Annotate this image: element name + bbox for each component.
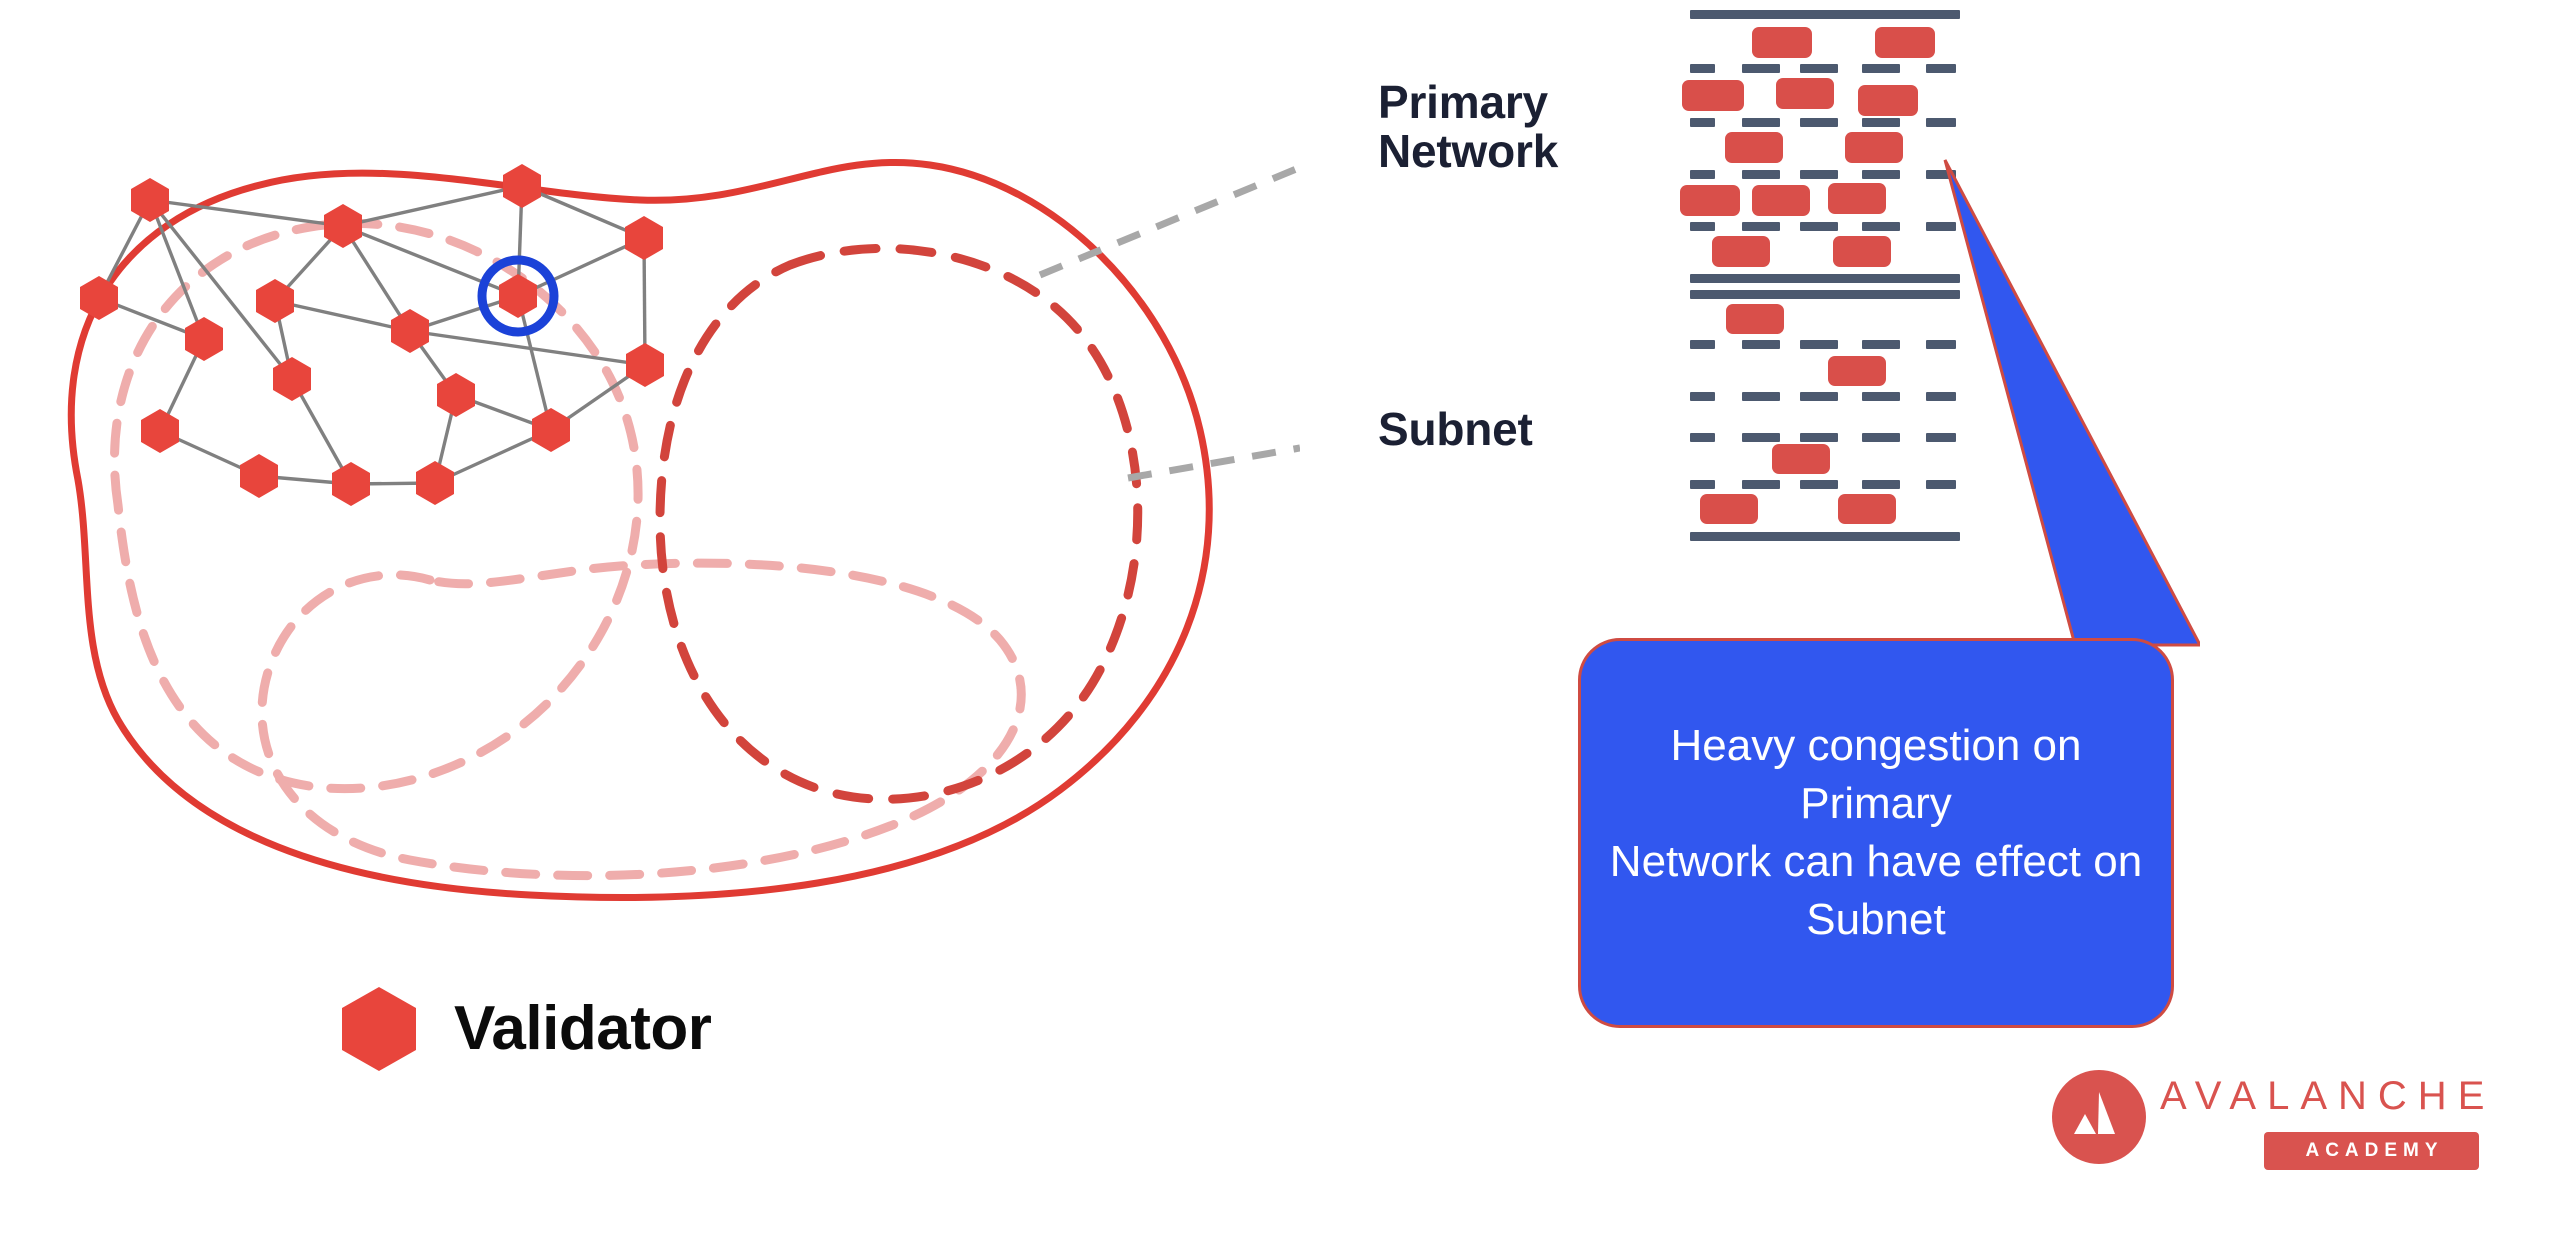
validator-legend: Validator (340, 985, 711, 1071)
transaction-block (1845, 132, 1903, 163)
pending-dash (1742, 480, 1780, 489)
transaction-block (1700, 494, 1758, 524)
validator-hexagon-icon (332, 462, 370, 506)
transaction-block (1833, 236, 1891, 267)
transaction-block (1828, 183, 1886, 214)
pending-dash-row (1690, 170, 1960, 179)
pending-dash (1800, 340, 1838, 349)
primary-network-label: Primary Network (1378, 78, 1558, 176)
pending-dash-row (1690, 118, 1960, 127)
avalanche-mark-icon (2052, 1070, 2146, 1164)
transaction-block (1712, 236, 1770, 267)
pending-dash (1690, 392, 1715, 401)
pending-dash (1800, 433, 1838, 442)
pending-dash (1800, 222, 1838, 231)
transaction-block (1682, 80, 1744, 111)
subnet-label: Subnet (1378, 405, 1533, 454)
transaction-block (1776, 78, 1834, 109)
validator-hexagon-icon (240, 454, 278, 498)
network-graph-svg (0, 0, 1300, 1000)
pending-dash-row (1690, 340, 1960, 349)
pending-dash (1690, 480, 1715, 489)
pending-dash (1742, 222, 1780, 231)
pending-dash-row (1690, 222, 1960, 231)
congestion-block-panel (1690, 10, 1970, 520)
transaction-block (1680, 185, 1740, 216)
pending-dash-row (1690, 64, 1960, 73)
academy-chip: ACADEMY (2264, 1132, 2479, 1170)
validator-hexagon-icon (391, 309, 429, 353)
pending-dash (1742, 340, 1780, 349)
pending-dash (1690, 433, 1715, 442)
validator-hexagon-icon (416, 461, 454, 505)
pending-dash (1690, 170, 1715, 179)
pending-dash (1742, 392, 1780, 401)
transaction-block (1752, 185, 1810, 216)
pending-dash (1862, 118, 1900, 127)
pending-dash (1742, 118, 1780, 127)
hexagon-icon (340, 985, 418, 1071)
pending-dash (1862, 480, 1900, 489)
pending-dash (1690, 340, 1715, 349)
validator-hexagon-icon (626, 343, 664, 387)
validator-hexagon-icon (532, 408, 570, 452)
avalanche-academy-logo: AVALANCHE ACADEMY (2052, 1070, 2492, 1180)
transaction-block (1838, 494, 1896, 524)
transaction-block (1725, 132, 1783, 163)
speech-bubble-tail (1940, 155, 2200, 665)
validator-hexagon-icon (503, 164, 541, 208)
transaction-block (1858, 85, 1918, 116)
block-rail-top (1690, 290, 1960, 299)
highlighted-validator-hexagon-icon (499, 274, 537, 318)
pending-dash (1690, 118, 1715, 127)
validator-legend-label: Validator (454, 993, 711, 1064)
pending-dash-row (1690, 480, 1960, 489)
pending-dash (1800, 170, 1838, 179)
pending-dash (1742, 170, 1780, 179)
academy-label: ACADEMY (2264, 1132, 2479, 1170)
pending-dash-row (1690, 433, 1960, 442)
pending-dash (1800, 64, 1838, 73)
network-boundary-outline (71, 162, 1209, 897)
block-rail-bottom (1690, 274, 1960, 283)
transaction-block (1726, 304, 1784, 334)
pending-dash-row (1690, 392, 1960, 401)
validator-nodes (80, 164, 664, 506)
pending-dash (1742, 433, 1780, 442)
avalanche-wordmark: AVALANCHE (2160, 1074, 2495, 1119)
speech-bubble-text: Heavy congestion on Primary Network can … (1606, 717, 2146, 949)
block-rail-top (1690, 10, 1960, 19)
pending-dash (1800, 118, 1838, 127)
pending-dash (1862, 64, 1900, 73)
validator-hexagon-icon (437, 373, 475, 417)
subnet-congestion-block (1690, 290, 1960, 512)
validator-hexagon-icon (625, 216, 663, 260)
pending-dash (1800, 392, 1838, 401)
transaction-block (1828, 356, 1886, 386)
pending-dash (1926, 118, 1956, 127)
transaction-block (1752, 27, 1812, 58)
validator-hexagon-icon (185, 317, 223, 361)
pending-dash (1800, 480, 1838, 489)
pending-dash (1862, 222, 1900, 231)
pending-dash (1926, 64, 1956, 73)
subnet-arrow (1128, 424, 1300, 478)
validator-hexagon-icon (141, 409, 179, 453)
pending-dash (1862, 392, 1900, 401)
pending-dash (1862, 433, 1900, 442)
pending-dash (1690, 222, 1715, 231)
pending-dash (1690, 64, 1715, 73)
speech-bubble: Heavy congestion on Primary Network can … (1578, 638, 2174, 1028)
transaction-block (1875, 27, 1935, 58)
pending-dash (1862, 340, 1900, 349)
network-graph-panel (0, 0, 1300, 1000)
diagram-canvas: Primary Network Subnet (0, 0, 2558, 1258)
transaction-block (1772, 444, 1830, 474)
subnet-region-outline (660, 248, 1138, 799)
primary-network-congestion-block (1690, 10, 1960, 225)
block-rail-bottom (1690, 532, 1960, 541)
primary-network-region-lower (262, 563, 1021, 875)
primary-network-arrow (1040, 143, 1300, 275)
pending-dash (1742, 64, 1780, 73)
pending-dash (1862, 170, 1900, 179)
